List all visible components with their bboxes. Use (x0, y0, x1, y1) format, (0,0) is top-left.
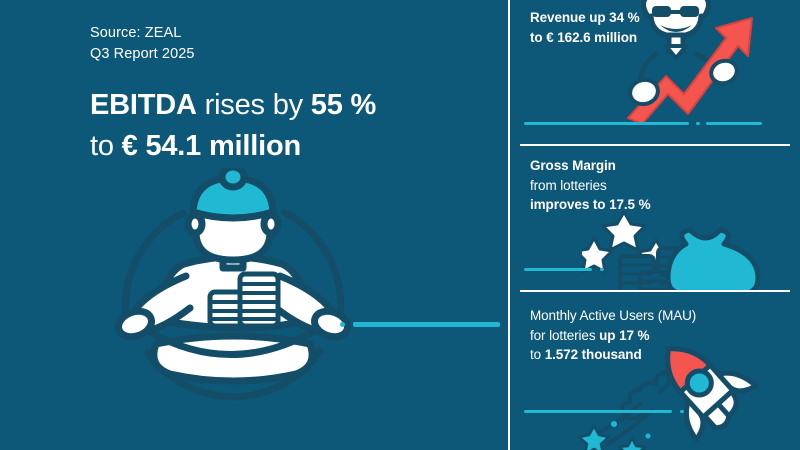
source-label: Source: ZEAL (90, 23, 195, 44)
headline-percent: 55 % (311, 89, 376, 121)
revenue-line-2: to € 162.6 million (530, 28, 640, 48)
panel-rule-revenue (524, 122, 792, 125)
infographic-canvas: Source: ZEAL Q3 Report 2025 EBITDA rises… (0, 0, 800, 450)
panel-separator-1 (520, 144, 790, 146)
mau-line-3: to 1.572 thousand (530, 345, 696, 365)
hero-to-panels-connector (340, 322, 500, 327)
page-title: EBITDA rises by 55 % to € 54.1 million (90, 85, 376, 167)
meditating-person-with-coins-icon (88, 168, 378, 403)
revenue-change: Revenue up 34 % (530, 10, 640, 25)
panel-rule-gross-margin (524, 268, 792, 271)
money-bag-with-coins-icon (582, 204, 782, 290)
mau-change: up 17 % (599, 328, 649, 343)
margin-line-2: from lotteries (530, 176, 651, 196)
kpi-panel-mau-text: Monthly Active Users (MAU) for lotteries… (530, 306, 696, 365)
kpi-panel-revenue[interactable]: Revenue up 34 % to € 162.6 million (510, 0, 800, 144)
headline-to-word: to (90, 130, 122, 162)
margin-line-1: Gross Margin (530, 156, 651, 176)
panel-rule-mau (524, 410, 792, 413)
mau-title: Monthly Active Users (MAU) (530, 308, 696, 323)
margin-source: from lotteries (530, 178, 607, 193)
margin-title: Gross Margin (530, 158, 616, 173)
kpi-panel-column: Revenue up 34 % to € 162.6 million (510, 0, 800, 450)
kpi-panel-gross-margin[interactable]: Gross Margin from lotteries improves to … (510, 146, 800, 290)
connector-dot (340, 322, 345, 327)
margin-line-3: improves to 17.5 % (530, 195, 651, 215)
kpi-panel-revenue-text: Revenue up 34 % to € 162.6 million (530, 8, 640, 47)
rising-arrow-with-character-icon (622, 0, 800, 129)
report-period-label: Q3 Report 2025 (90, 44, 195, 65)
mau-to-word: to (530, 347, 545, 362)
kpi-panel-gross-margin-text: Gross Margin from lotteries improves to … (530, 156, 651, 215)
mau-line-1: Monthly Active Users (MAU) (530, 306, 696, 326)
left-summary-column: Source: ZEAL Q3 Report 2025 EBITDA rises… (0, 0, 500, 450)
headline-line-2: to € 54.1 million (90, 126, 376, 167)
source-block: Source: ZEAL Q3 Report 2025 (90, 23, 195, 64)
revenue-line-1: Revenue up 34 % (530, 8, 640, 28)
headline-amount: € 54.1 million (122, 130, 301, 162)
kpi-panel-mau[interactable]: Monthly Active Users (MAU) for lotteries… (510, 292, 800, 450)
mau-value: 1.572 thousand (545, 347, 642, 362)
headline-line-1: EBITDA rises by 55 % (90, 85, 376, 126)
panel-separator-2 (520, 290, 790, 292)
margin-value: improves to 17.5 % (530, 197, 651, 212)
headline-metric-name: EBITDA (90, 89, 197, 121)
mau-line-2: for lotteries up 17 % (530, 326, 696, 346)
mau-scope: for lotteries (530, 328, 599, 343)
headline-verb: rises by (197, 89, 311, 121)
revenue-amount: to € 162.6 million (530, 30, 637, 45)
connector-line (353, 322, 500, 327)
